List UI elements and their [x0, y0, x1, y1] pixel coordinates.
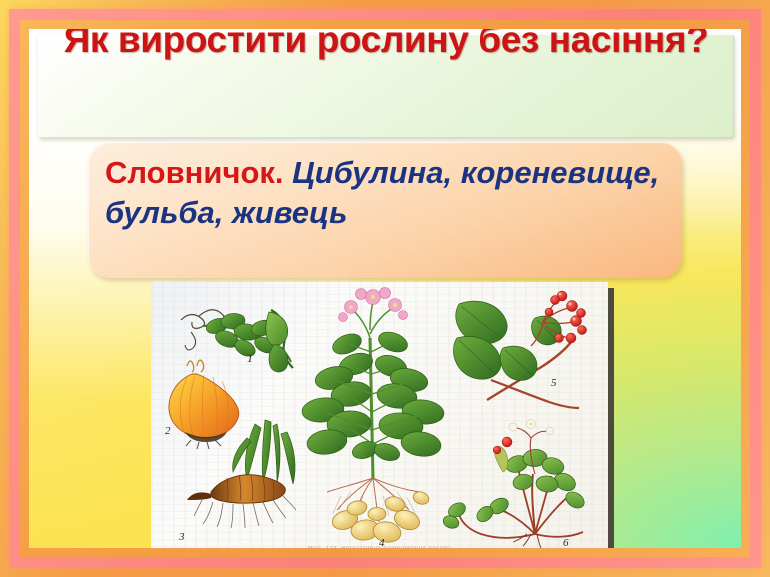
plant-illustrations-svg: 1	[151, 282, 608, 548]
illustration-caption: Мал. 123. Вегетативне розмноження рослин	[151, 546, 608, 548]
figure-4-potato-plant: 4	[301, 288, 445, 549]
figure-2-onion-bulb: 2	[165, 360, 239, 449]
page-title: Як виростити рослину без насіння?	[38, 29, 734, 62]
glossary-lead-label: Словничок.	[105, 155, 284, 190]
slide-canvas: Як виростити рослину без насіння? Словни…	[29, 29, 741, 548]
svg-text:5: 5	[551, 377, 557, 389]
figure-6-strawberry-runner: 6	[441, 420, 587, 549]
illustration-plate: 1	[151, 282, 608, 548]
glossary-text: Словничок. Цибулина, кореневище, бульба,…	[105, 153, 675, 234]
svg-text:1: 1	[247, 351, 253, 365]
illustration: 1	[151, 282, 608, 548]
figure-5-berry-branch: 5	[453, 291, 586, 408]
svg-text:3: 3	[178, 531, 185, 543]
svg-text:2: 2	[165, 425, 171, 437]
slide: Як виростити рослину без насіння? Словни…	[0, 0, 770, 577]
